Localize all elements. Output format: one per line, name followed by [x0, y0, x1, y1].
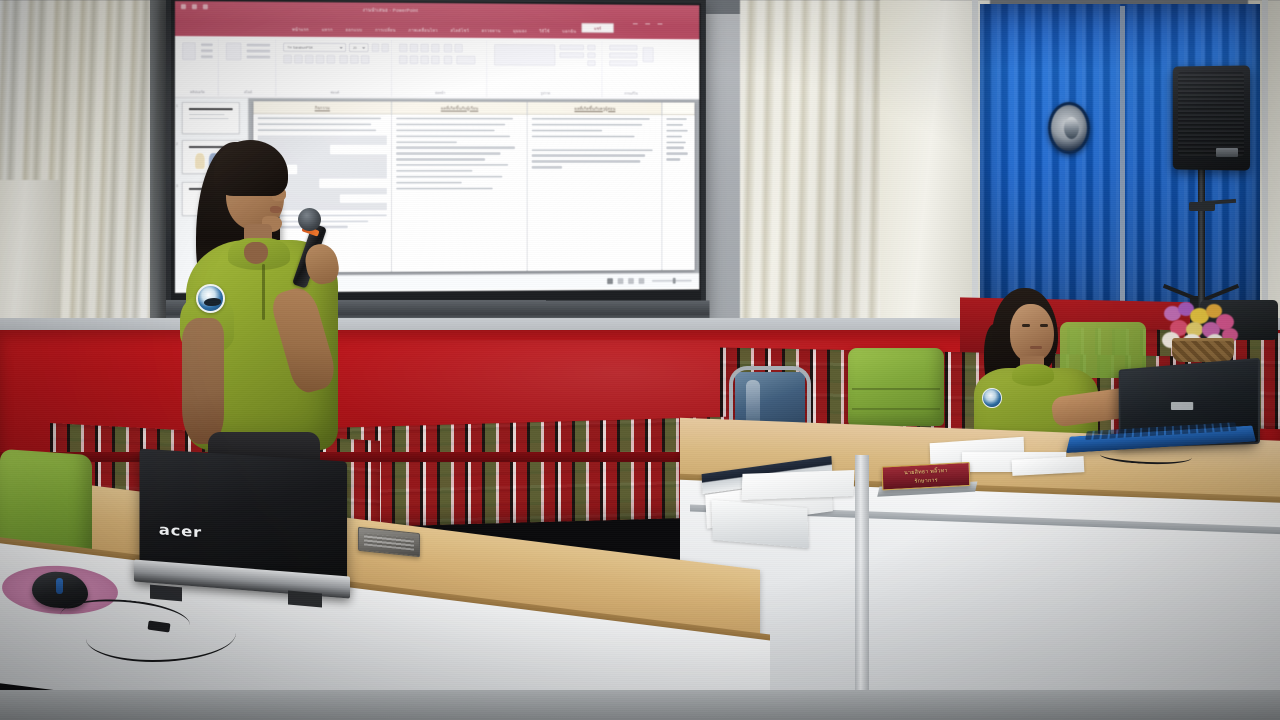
ribbon-group-editing-label: การแก้ไข — [604, 92, 657, 97]
ribbon-group-paragraph[interactable]: ย่อหน้า — [394, 39, 487, 97]
column-header-3: ผลที่เกิดขึ้นกับครูผู้สอน — [528, 102, 661, 115]
ribbon-group-paragraph-label: ย่อหน้า — [394, 91, 486, 96]
chair-seam-upper — [852, 388, 940, 390]
ribbon-group-font-label: ฟอนต์ — [278, 90, 391, 95]
strikethrough-icon[interactable] — [316, 55, 325, 64]
bullets-icon[interactable] — [399, 43, 408, 52]
tab-insert[interactable]: แทรก — [322, 26, 333, 33]
nameplate-line-1: นายสิทธา พลิ้วทา — [904, 467, 948, 477]
speaker-brand-badge — [1216, 148, 1238, 157]
presenter-arm-left — [182, 318, 224, 444]
chair-seam-lower — [852, 408, 940, 410]
text-shadow-icon[interactable] — [326, 55, 335, 64]
green-executive-chair[interactable] — [848, 348, 944, 426]
tab-help[interactable]: วิธีใช้ — [539, 28, 549, 35]
tab-review[interactable]: ตรวจทาน — [482, 27, 501, 34]
increase-indent-icon[interactable] — [431, 44, 440, 53]
shape-effects-icon[interactable] — [587, 60, 596, 66]
tab-transitions[interactable]: การเปลี่ยน — [375, 26, 396, 33]
tab-tell-me[interactable]: บอกฉัน — [562, 28, 576, 35]
conference-room-photo: งานนำเสนอ - PowerPoint หน้าแรก แทรก ออกแ… — [0, 0, 1280, 720]
presenter-shoulder-patch-icon — [196, 284, 225, 313]
desk-nameplate: นายสิทธา พลิ้วทา รักษาการ — [882, 458, 979, 495]
decrease-font-icon[interactable] — [381, 43, 389, 52]
ribbon-group-slides-label: สไลด์ — [221, 90, 275, 95]
assistant-eye-left — [1022, 324, 1030, 327]
tab-animations[interactable]: ภาพเคลื่อนไหว — [408, 27, 437, 34]
speaker-stand-collar — [1189, 202, 1215, 211]
layout-icon[interactable] — [247, 43, 271, 46]
bold-icon[interactable] — [283, 55, 292, 64]
change-case-icon[interactable] — [350, 55, 359, 64]
acer-brand-text: acer — [159, 522, 202, 541]
tab-home[interactable]: หน้าแรก — [292, 26, 309, 33]
window-title: งานนำเสนอ - PowerPoint — [363, 7, 418, 14]
normal-view-icon[interactable] — [607, 278, 613, 284]
section-icon[interactable] — [247, 55, 271, 58]
assistant-shirt-collar — [1012, 364, 1054, 386]
ribbon[interactable]: คลิปบอร์ด สไลด์ TH SarabunPSK 20 — [175, 36, 699, 100]
assistant-face — [1010, 304, 1054, 362]
assistant-shoulder-patch-icon — [982, 388, 1002, 408]
shape-fill-icon[interactable] — [587, 45, 596, 51]
align-center-icon[interactable] — [410, 55, 419, 64]
slideshow-view-icon[interactable] — [639, 278, 645, 284]
justify-icon[interactable] — [431, 55, 440, 64]
character-spacing-icon[interactable] — [339, 55, 348, 64]
shapes-gallery-icon[interactable] — [494, 44, 556, 66]
ribbon-group-clipboard-label: คลิปบอร์ด — [177, 90, 218, 95]
paper-sheet — [742, 470, 855, 500]
column-header-2: ผลที่เกิดขึ้นกับผู้เรียน — [392, 102, 527, 115]
align-right-icon[interactable] — [420, 55, 429, 64]
ribbon-group-font[interactable]: TH SarabunPSK 20 ฟอนต์ — [278, 39, 392, 97]
dictate-icon[interactable] — [642, 47, 653, 63]
column-body-3 — [528, 115, 661, 175]
font-size-value: 20 — [353, 46, 357, 50]
slide-sorter-icon[interactable] — [618, 278, 624, 284]
column-header-1: กิจกรรม — [253, 101, 390, 114]
format-painter-icon[interactable] — [201, 55, 213, 58]
microphone-head-icon[interactable] — [298, 208, 321, 231]
quick-access-toolbar[interactable] — [181, 4, 208, 9]
ribbon-group-drawing-label: รูปวาด — [489, 91, 601, 96]
presenter-shirt-collar — [228, 238, 290, 270]
ribbon-group-slides[interactable]: สไลด์ — [221, 38, 276, 96]
underline-icon[interactable] — [305, 55, 314, 64]
align-left-icon[interactable] — [399, 55, 408, 64]
save-icon[interactable] — [181, 4, 186, 9]
undo-icon[interactable] — [192, 4, 197, 9]
reading-view-icon[interactable] — [628, 278, 634, 284]
columns-icon[interactable] — [444, 55, 453, 64]
column-body-2 — [392, 115, 527, 197]
font-name-value: TH SarabunPSK — [287, 45, 313, 49]
cut-icon[interactable] — [201, 43, 213, 46]
ribbon-group-drawing[interactable]: รูปวาด — [489, 40, 602, 97]
decrease-indent-icon[interactable] — [420, 44, 429, 53]
copy-icon[interactable] — [201, 49, 213, 52]
slide-column-side-notes — [662, 102, 694, 270]
floor — [0, 690, 1280, 720]
presenter-mouth — [270, 206, 282, 213]
mouse-scroll-wheel[interactable] — [56, 578, 63, 594]
presenter-hair-front — [214, 140, 288, 196]
text-direction-icon[interactable] — [454, 44, 463, 53]
wall-seal-emblem — [1048, 102, 1090, 154]
slide-thumbnail-1[interactable] — [182, 102, 240, 134]
find-icon[interactable] — [609, 45, 638, 51]
acer-logo-right-icon — [1171, 402, 1193, 410]
italic-icon[interactable] — [294, 55, 303, 64]
reset-icon[interactable] — [247, 49, 271, 52]
paste-icon[interactable] — [182, 42, 196, 60]
thumbnail-number-1: 1 — [176, 104, 178, 108]
assistant-eye-right — [1040, 324, 1048, 327]
nameplate-line-2: รักษาการ — [914, 476, 938, 485]
column-header-3-label: ผลที่เกิดขึ้นกับครูผู้สอน — [574, 105, 615, 112]
wicker-basket — [1172, 338, 1234, 362]
view-switcher[interactable] — [607, 278, 644, 284]
speaker-stand-pole — [1198, 168, 1205, 316]
nameplate-face: นายสิทธา พลิ้วทา รักษาการ — [882, 462, 971, 491]
slide-column-student-outcomes: ผลที่เกิดขึ้นกับผู้เรียน — [392, 102, 528, 272]
column-header-4 — [662, 102, 694, 115]
speaker-grille — [1178, 72, 1244, 156]
numbering-icon[interactable] — [410, 43, 419, 52]
laptop-stand-foot-right — [288, 591, 322, 608]
share-button-label: แชร์ — [594, 24, 601, 31]
line-spacing-icon[interactable] — [444, 44, 453, 53]
zoom-slider[interactable] — [652, 280, 692, 282]
paper-sheet — [711, 500, 808, 549]
laptop-stand-foot-left — [150, 585, 182, 602]
font-name-box[interactable]: TH SarabunPSK — [283, 43, 346, 52]
share-button[interactable]: แชร์ — [581, 23, 613, 33]
ribbon-group-clipboard[interactable]: คลิปบอร์ด — [177, 38, 219, 96]
column-header-1-label: กิจกรรม — [315, 104, 330, 111]
column-header-2-label: ผลที่เกิดขึ้นกับผู้เรียน — [441, 104, 478, 111]
font-color-icon[interactable] — [361, 55, 370, 64]
acer-logo-left-icon: acer — [162, 523, 206, 539]
replace-icon[interactable] — [609, 52, 638, 58]
desk-divider-post — [855, 455, 869, 705]
assistant-mouth — [1030, 346, 1042, 349]
select-icon[interactable] — [609, 60, 638, 66]
presenter-shirt-placket — [262, 264, 265, 320]
ribbon-group-editing[interactable]: การแก้ไข — [604, 41, 657, 98]
font-size-box[interactable]: 20 — [349, 43, 369, 52]
convert-smartart-icon[interactable] — [456, 56, 475, 65]
increase-font-icon[interactable] — [372, 43, 380, 52]
tab-design[interactable]: ออกแบบ — [345, 26, 362, 33]
slide-column-teacher-outcomes: ผลที่เกิดขึ้นกับครูผู้สอน — [528, 102, 662, 271]
column-body-4 — [662, 115, 694, 167]
arrange-icon[interactable] — [559, 44, 584, 50]
tab-slideshow[interactable]: สไลด์โชว์ — [450, 27, 469, 34]
standing-presenter — [178, 136, 346, 470]
redo-icon[interactable] — [203, 4, 208, 9]
quick-styles-icon[interactable] — [559, 52, 584, 58]
tab-view[interactable]: มุมมอง — [513, 27, 527, 34]
shape-outline-icon[interactable] — [587, 52, 596, 58]
new-slide-icon[interactable] — [226, 42, 242, 60]
